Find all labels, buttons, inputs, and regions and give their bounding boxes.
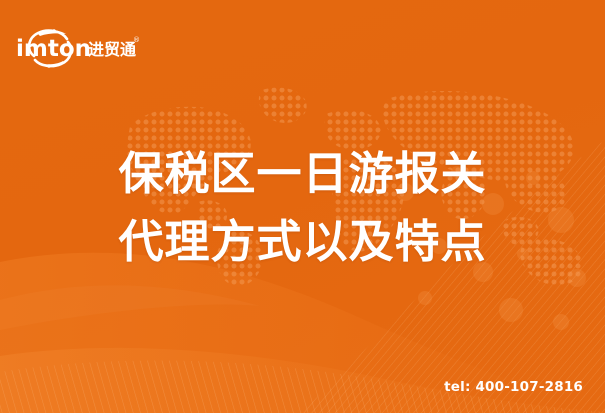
- headline: 保税区一日游报关 代理方式以及特点: [0, 140, 605, 276]
- headline-line-2: 代理方式以及特点: [0, 208, 605, 276]
- logo-wordmark: imton: [16, 36, 91, 62]
- logo-trademark-symbol: ®: [133, 36, 140, 44]
- logo-chinese-name: 进贸通: [88, 40, 136, 59]
- promo-banner: imton 进贸通 ® 保税区一日游报关 代理方式以及特点 tel: 400-1…: [0, 0, 605, 413]
- headline-line-1: 保税区一日游报关: [0, 140, 605, 208]
- company-logo[interactable]: imton 进贸通 ®: [14, 22, 140, 72]
- contact-telephone: tel: 400-107-2816: [444, 379, 583, 395]
- globe-swoosh-icon: imton 进贸通 ®: [14, 22, 140, 72]
